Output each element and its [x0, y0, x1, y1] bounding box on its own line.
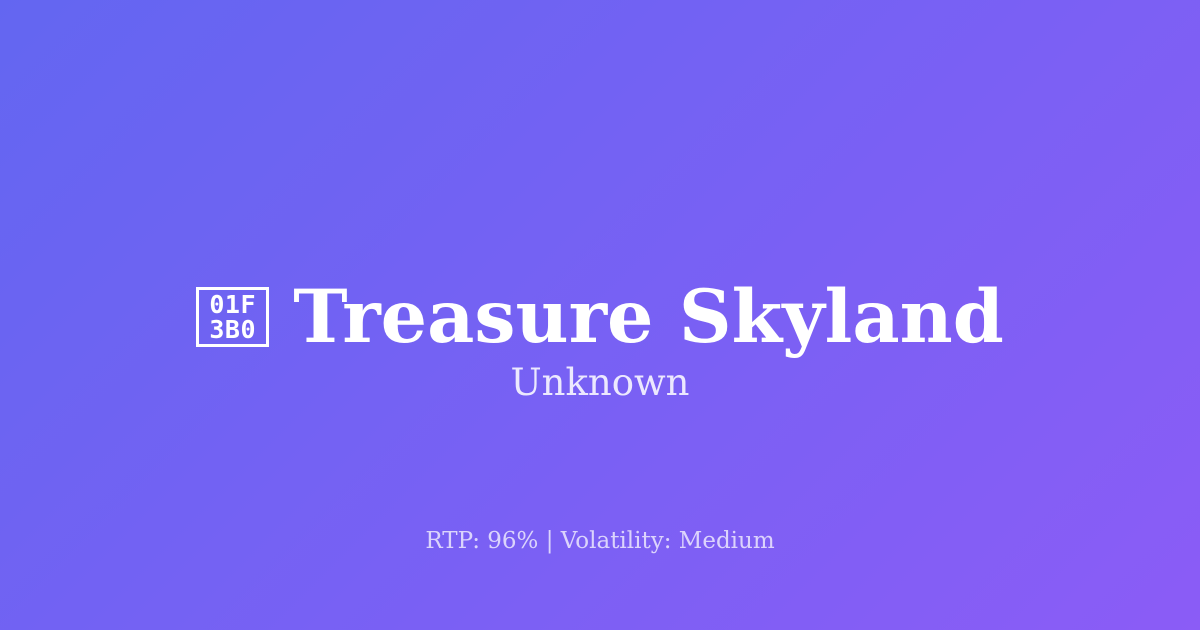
- game-share-card: 01F 3B0 Treasure Skyland Unknown RTP: 96…: [0, 0, 1200, 630]
- game-stats: RTP: 96% | Volatility: Medium: [0, 528, 1200, 556]
- game-provider: Unknown: [0, 362, 1200, 405]
- game-title: Treasure Skyland: [293, 281, 1004, 354]
- slot-machine-icon-codepoint-high: 01F: [209, 292, 256, 318]
- slot-machine-icon: 01F 3B0: [196, 287, 269, 347]
- slot-machine-icon-codepoint-low: 3B0: [209, 317, 256, 343]
